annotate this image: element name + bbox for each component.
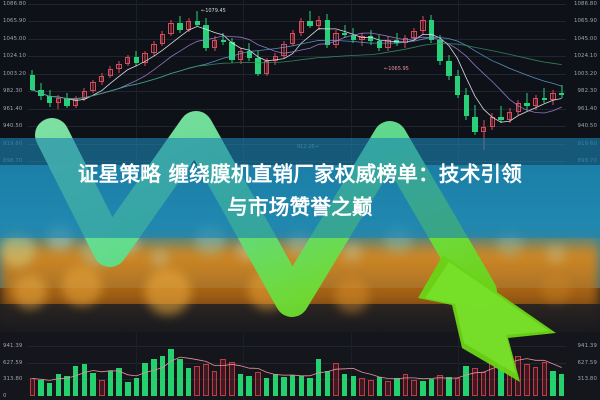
price-axis-label-right: 1003.20: [574, 71, 597, 77]
price-axis-label-right: 982.30: [578, 88, 597, 94]
moving-average-line-20: [32, 38, 561, 99]
price-axis-label-left: 982.30: [3, 88, 22, 94]
bokeh-light: [151, 249, 169, 267]
price-axis-label-left: 1045.00: [3, 36, 26, 42]
bokeh-light: [441, 239, 463, 261]
volume-axis-label-right: 941.39: [578, 343, 597, 349]
price-axis-label-right: 1065.90: [574, 18, 597, 24]
volume-axis-label-right: 627.59: [578, 360, 597, 366]
price-axis-label-right: 1086.80: [574, 1, 597, 7]
bokeh-light: [145, 269, 191, 315]
price-axis-label-right: 940.50: [578, 123, 597, 129]
price-annotation: ←1079.45: [201, 8, 226, 14]
moving-average-line-5: [32, 26, 561, 122]
bokeh-light: [81, 237, 111, 267]
volume-axis-label-left: 313.80: [3, 376, 22, 382]
price-annotation: ←1065.95: [384, 66, 409, 72]
screenshot-root: 1086.801065.901045.001024.101003.20982.3…: [0, 0, 600, 400]
page-title: 证星策略 缠绕膜机直销厂家权威榜单：技术引领 与市场赞誉之巅: [0, 158, 600, 224]
volume-axis-label-left: 941.39: [3, 343, 22, 349]
price-axis-label-right: 1024.10: [574, 53, 597, 59]
bokeh-light: [342, 242, 362, 262]
price-axis-label-left: 1003.20: [3, 71, 26, 77]
bokeh-light: [13, 275, 47, 309]
bokeh-light: [452, 274, 488, 310]
page-title-line-2: 与市场赞誉之巅: [0, 191, 600, 224]
bokeh-light: [546, 244, 566, 264]
volume-chart-panel: 941.39627.59313.800 941.39627.59313.80: [0, 332, 600, 400]
bokeh-light: [62, 266, 102, 306]
page-title-line-1: 证星策略 缠绕膜机直销厂家权威榜单：技术引领: [0, 158, 600, 191]
volume-axis-label-right: 313.80: [578, 376, 597, 382]
bokeh-light: [335, 279, 369, 313]
price-axis-label-right: 1045.00: [574, 36, 597, 42]
price-axis-label-left: 1065.90: [3, 18, 26, 24]
bokeh-light: [1, 233, 35, 267]
price-axis-label-left: 1024.10: [3, 53, 26, 59]
price-axis-label-left: 940.50: [3, 123, 22, 129]
moving-average-line-40: [32, 44, 561, 99]
volume-axis-label-left: 0: [3, 393, 7, 399]
volume-moving-average-line: [0, 332, 600, 400]
volume-ma-line: [32, 357, 561, 380]
price-axis-label-right: 961.40: [578, 106, 597, 112]
bokeh-light: [541, 273, 571, 303]
price-axis-label-left: 961.40: [3, 106, 22, 112]
volume-axis-label-left: 627.59: [3, 360, 22, 366]
bokeh-light: [248, 270, 288, 310]
price-axis-label-left: 1086.80: [3, 1, 26, 7]
bokeh-light: [237, 239, 259, 261]
